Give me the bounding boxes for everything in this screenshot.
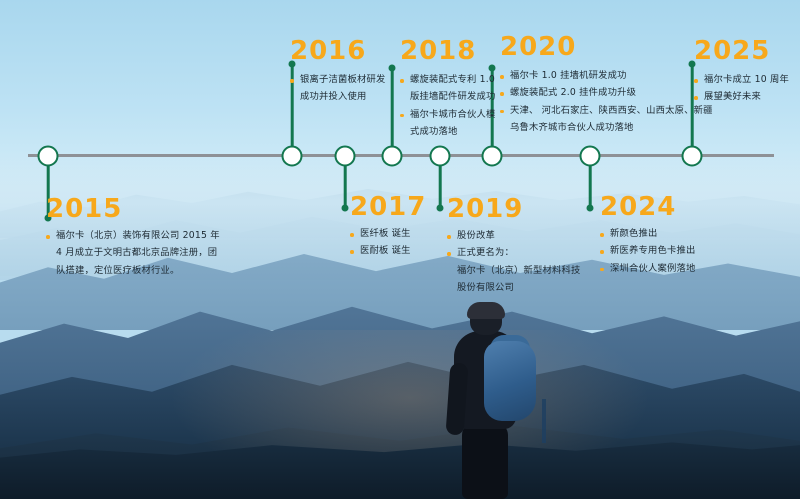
timeline-entry-2017: 2017医纤板 诞生医耐板 诞生 xyxy=(350,194,426,261)
timeline-entry-2020: 2020福尔卡 1.0 挂墙机研发成功螺旋装配式 2.0 挂件成功升级天津、 河… xyxy=(500,34,713,137)
timeline-bullet-list-2017: 医纤板 诞生医耐板 诞生 xyxy=(350,226,426,259)
timeline-infographic: 2015福尔卡（北京）装饰有限公司 2015 年4 月成立于文明古都北京品牌注册… xyxy=(0,0,800,499)
timeline-bullet: 股份改革 xyxy=(447,228,580,243)
timeline-year-label-2018: 2018 xyxy=(400,38,495,64)
timeline-bullet: 成功并投入使用 xyxy=(290,89,385,104)
timeline-node-2020[interactable] xyxy=(482,146,503,167)
timeline-node-2016[interactable] xyxy=(282,146,303,167)
timeline-node-2024[interactable] xyxy=(580,146,601,167)
timeline-entry-2018: 2018螺旋装配式专利 1.0版挂墙配件研发成功福尔卡城市合伙人模式成功落地 xyxy=(400,38,495,141)
timeline-bullet-list-2018: 螺旋装配式专利 1.0版挂墙配件研发成功福尔卡城市合伙人模式成功落地 xyxy=(400,72,495,139)
hiker-legs xyxy=(462,423,508,499)
hiker-hat xyxy=(467,302,505,319)
timeline-entry-2024: 2024新颜色推出新医养专用色卡推出深圳合伙人案例落地 xyxy=(600,194,695,278)
timeline-entry-2016: 2016银离子洁菌板材研发成功并投入使用 xyxy=(290,38,385,107)
timeline-bullet: 福尔卡成立 10 周年 xyxy=(694,72,789,87)
timeline-bullet-list-2016: 银离子洁菌板材研发成功并投入使用 xyxy=(290,72,385,105)
backpack xyxy=(484,341,536,421)
timeline-bullet: 银离子洁菌板材研发 xyxy=(290,72,385,87)
timeline-bullet: 版挂墙配件研发成功 xyxy=(400,89,495,104)
timeline-node-2019[interactable] xyxy=(430,146,451,167)
timeline-bullet: 新颜色推出 xyxy=(600,226,695,241)
timeline-bullet: 4 月成立于文明古都北京品牌注册，团 xyxy=(46,245,220,260)
timeline-bullet: 队搭建，定位医疗板材行业。 xyxy=(46,263,220,278)
timeline-bullet: 螺旋装配式专利 1.0 xyxy=(400,72,495,87)
backpack-strap xyxy=(542,399,546,443)
timeline-bullet: 天津、 河北石家庄、陕西西安、山西太原、新疆 xyxy=(500,103,713,118)
timeline-bullet: 福尔卡（北京）新型材料科技 xyxy=(447,263,580,278)
timeline-node-2018[interactable] xyxy=(382,146,403,167)
timeline-bullet: 式成功落地 xyxy=(400,124,495,139)
timeline-year-label-2025: 2025 xyxy=(694,38,789,64)
timeline-stem-dot-2017 xyxy=(342,205,349,212)
timeline-node-2017[interactable] xyxy=(335,146,356,167)
timeline-year-label-2015: 2015 xyxy=(46,196,220,222)
timeline-year-label-2020: 2020 xyxy=(500,34,713,60)
timeline-bullet: 福尔卡（北京）装饰有限公司 2015 年 xyxy=(46,228,220,243)
timeline-bullet: 展望美好未来 xyxy=(694,89,789,104)
timeline-bullet: 螺旋装配式 2.0 挂件成功升级 xyxy=(500,85,713,100)
timeline-node-2015[interactable] xyxy=(38,146,59,167)
timeline-bullet: 福尔卡 1.0 挂墙机研发成功 xyxy=(500,68,713,83)
timeline-bullet: 新医养专用色卡推出 xyxy=(600,243,695,258)
timeline-year-label-2016: 2016 xyxy=(290,38,385,64)
timeline-year-label-2017: 2017 xyxy=(350,194,426,220)
timeline-stem-dot-2024 xyxy=(587,205,594,212)
timeline-bullet: 乌鲁木齐城市合伙人成功落地 xyxy=(500,120,713,135)
timeline-bullet-list-2020: 福尔卡 1.0 挂墙机研发成功螺旋装配式 2.0 挂件成功升级天津、 河北石家庄… xyxy=(500,68,713,135)
timeline-stem-dot-2019 xyxy=(437,205,444,212)
timeline-bullet: 医纤板 诞生 xyxy=(350,226,426,241)
timeline-bullet-list-2019: 股份改革正式更名为：福尔卡（北京）新型材料科技股份有限公司 xyxy=(447,228,580,295)
timeline-bullet-list-2025: 福尔卡成立 10 周年展望美好未来 xyxy=(694,72,789,105)
timeline-bullet-list-2015: 福尔卡（北京）装饰有限公司 2015 年4 月成立于文明古都北京品牌注册，团队搭… xyxy=(46,228,220,278)
timeline-bullet: 深圳合伙人案例落地 xyxy=(600,261,695,276)
timeline-entry-2019: 2019股份改革正式更名为：福尔卡（北京）新型材料科技股份有限公司 xyxy=(447,196,580,297)
timeline-entry-2025: 2025福尔卡成立 10 周年展望美好未来 xyxy=(694,38,789,107)
timeline-stem-2018 xyxy=(391,68,394,156)
hiker-figure xyxy=(440,305,560,499)
timeline-year-label-2024: 2024 xyxy=(600,194,695,220)
timeline-node-2025[interactable] xyxy=(682,146,703,167)
timeline-stem-dot-2018 xyxy=(389,65,396,72)
timeline-entry-2015: 2015福尔卡（北京）装饰有限公司 2015 年4 月成立于文明古都北京品牌注册… xyxy=(46,196,220,280)
timeline-bullet-list-2024: 新颜色推出新医养专用色卡推出深圳合伙人案例落地 xyxy=(600,226,695,276)
timeline-bullet: 福尔卡城市合伙人模 xyxy=(400,107,495,122)
timeline-year-label-2019: 2019 xyxy=(447,196,580,222)
timeline-bullet: 正式更名为： xyxy=(447,245,580,260)
timeline-bullet: 股份有限公司 xyxy=(447,280,580,295)
timeline-bullet: 医耐板 诞生 xyxy=(350,243,426,258)
